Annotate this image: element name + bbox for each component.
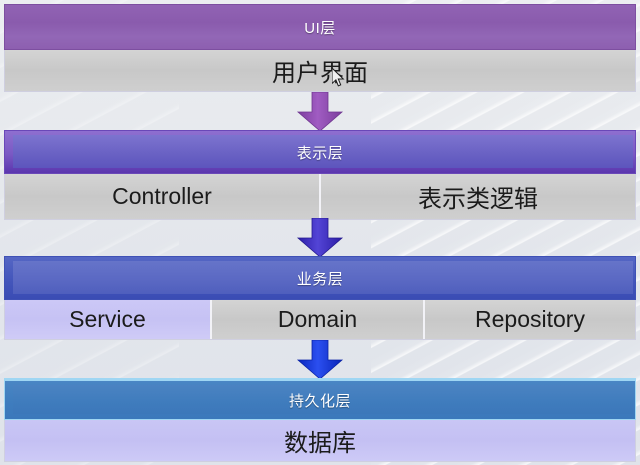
layer-business-header[interactable]: 业务层 — [4, 256, 636, 300]
layer-persistence-header-label: 持久化层 — [289, 390, 351, 411]
cell-repository[interactable]: Repository — [425, 300, 635, 339]
mouse-cursor — [332, 68, 346, 88]
layer-persistence[interactable]: 持久化层 数据库 — [4, 378, 636, 462]
cell-presentation-logic-label: 表示类逻辑 — [418, 179, 538, 214]
cell-user-interface-label: 用户界面 — [272, 53, 368, 88]
cell-domain[interactable]: Domain — [212, 300, 425, 339]
arrow-business-to-persistence — [293, 340, 347, 380]
layer-presentation[interactable]: 表示层 Controller 表示类逻辑 — [4, 130, 636, 220]
cell-user-interface[interactable]: 用户界面 — [5, 50, 635, 91]
cell-database-label: 数据库 — [284, 423, 356, 458]
cell-presentation-logic[interactable]: 表示类逻辑 — [321, 174, 635, 219]
cell-service[interactable]: Service — [5, 300, 212, 339]
cell-repository-label: Repository — [475, 306, 585, 333]
layer-ui[interactable]: UI层 用户界面 — [4, 4, 636, 92]
layer-ui-header[interactable]: UI层 — [4, 4, 636, 50]
layer-persistence-header[interactable]: 持久化层 — [4, 378, 636, 420]
cell-database[interactable]: 数据库 — [5, 420, 635, 461]
layer-business-body: Service Domain Repository — [4, 300, 636, 340]
arrow-ui-to-presentation — [293, 92, 347, 132]
cell-controller[interactable]: Controller — [5, 174, 321, 219]
cell-service-label: Service — [69, 306, 146, 333]
layer-business[interactable]: 业务层 Service Domain Repository — [4, 256, 636, 340]
layer-persistence-body: 数据库 — [4, 420, 636, 462]
cell-controller-label: Controller — [112, 183, 212, 210]
arrow-presentation-to-business — [293, 218, 347, 258]
layer-business-header-label: 业务层 — [297, 268, 344, 289]
layer-ui-header-label: UI层 — [304, 17, 336, 38]
cell-domain-label: Domain — [278, 306, 357, 333]
slide-canvas: UI层 用户界面 表示层 Controll — [0, 0, 640, 465]
layer-presentation-header[interactable]: 表示层 — [4, 130, 636, 174]
layer-ui-body: 用户界面 — [4, 50, 636, 92]
layer-presentation-body: Controller 表示类逻辑 — [4, 174, 636, 220]
layer-presentation-header-label: 表示层 — [297, 142, 344, 163]
